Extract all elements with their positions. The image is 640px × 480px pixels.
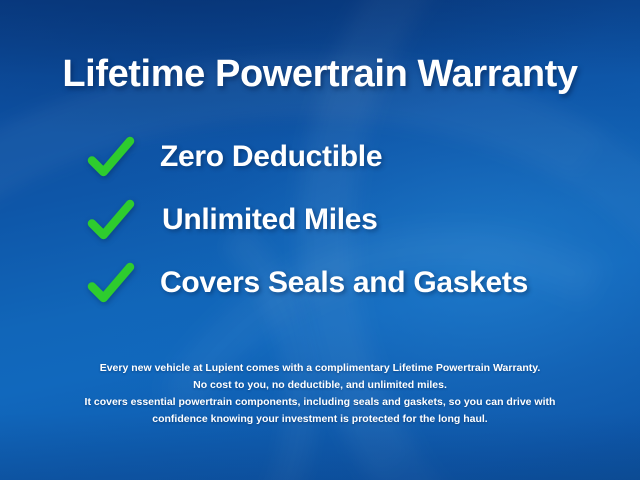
feature-label: Unlimited Miles — [162, 203, 378, 237]
banner-title: Lifetime Powertrain Warranty — [0, 0, 640, 96]
disclaimer-line: Every new vehicle at Lupient comes with … — [26, 360, 614, 377]
feature-item-zero-deductible: Zero Deductible — [0, 126, 640, 189]
feature-item-covers-seals-and-gaskets: Covers Seals and Gaskets — [0, 252, 640, 315]
disclaimer-text: Every new vehicle at Lupient comes with … — [0, 360, 640, 480]
warranty-banner: Lifetime Powertrain Warranty Zero Deduct… — [0, 0, 640, 480]
feature-label: Zero Deductible — [160, 140, 382, 174]
check-icon — [86, 135, 136, 179]
disclaimer-line: No cost to you, no deductible, and unlim… — [26, 377, 614, 394]
feature-list: Zero Deductible Unlimited Miles Covers S… — [0, 126, 640, 315]
disclaimer-line: confidence knowing your investment is pr… — [26, 411, 614, 428]
feature-item-unlimited-miles: Unlimited Miles — [0, 189, 640, 252]
check-icon — [86, 261, 136, 305]
feature-label: Covers Seals and Gaskets — [160, 266, 528, 300]
check-icon — [86, 198, 136, 242]
disclaimer-line: It covers essential powertrain component… — [26, 394, 614, 411]
banner-content: Lifetime Powertrain Warranty Zero Deduct… — [0, 0, 640, 480]
